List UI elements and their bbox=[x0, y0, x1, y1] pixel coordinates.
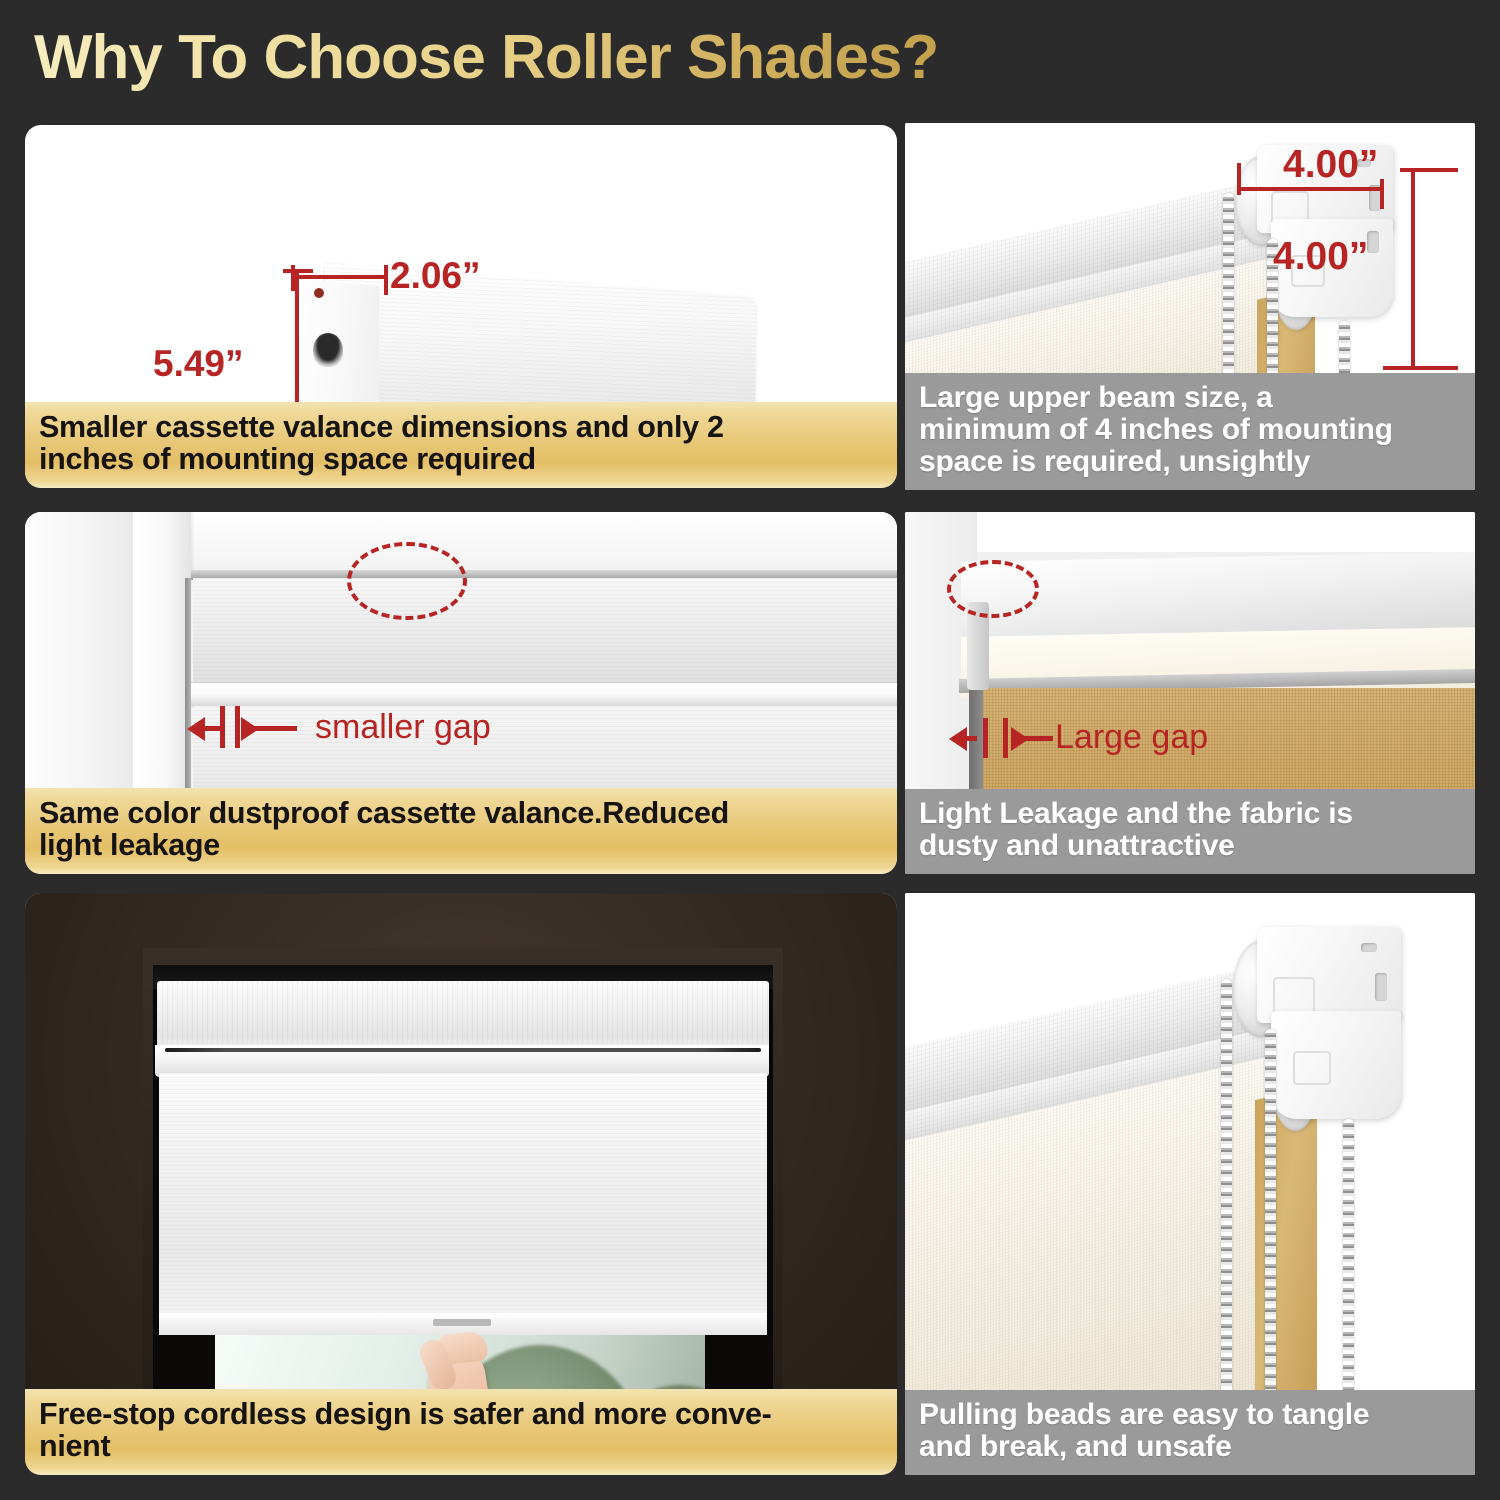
shade-fabric bbox=[159, 1073, 767, 1328]
gap-tick-a bbox=[983, 718, 988, 758]
caption-line: Smaller cassette valance dimensions and … bbox=[39, 411, 883, 444]
endcap-rivet bbox=[314, 288, 324, 298]
caption-line: dusty and unattractive bbox=[919, 830, 1461, 862]
beam-width-tick-left bbox=[1237, 163, 1241, 195]
bracket-slot-lower bbox=[1367, 231, 1379, 253]
caption-line: and break, and unsafe bbox=[919, 1431, 1461, 1463]
pulling-beads-photo bbox=[905, 893, 1475, 1475]
cassette-slit bbox=[165, 1048, 761, 1052]
beam-width-tick-right bbox=[1380, 179, 1384, 209]
width-dim-line bbox=[292, 275, 388, 279]
cassette-valance bbox=[157, 981, 769, 1053]
height-dimension-label: 5.49” bbox=[153, 343, 244, 385]
caption-line: inches of mounting space required bbox=[39, 443, 883, 476]
panel-smaller-gap: smaller gap Same color dustproof cassett… bbox=[25, 512, 897, 874]
panel-light-leakage: Large gap Light Leakage and the fabric i… bbox=[905, 512, 1475, 874]
shade-mid-band bbox=[191, 682, 897, 707]
highlight-ellipse bbox=[947, 560, 1039, 618]
bracket-slot-top bbox=[1361, 943, 1377, 952]
beam-height-tick-top bbox=[1400, 168, 1458, 172]
bracket-slot-right bbox=[1375, 973, 1387, 1001]
panel-small-cassette: 2.06” 5.49” Smaller cassette valance dim… bbox=[25, 125, 897, 488]
beam-height-dim-line bbox=[1411, 169, 1415, 369]
caption-line: Light Leakage and the fabric is bbox=[919, 798, 1461, 830]
caption-line: minimum of 4 inches of mounting bbox=[919, 414, 1461, 446]
width-dim-tick-right bbox=[384, 265, 388, 295]
room-photo bbox=[25, 893, 897, 1475]
bracket-emboss bbox=[1273, 977, 1315, 1015]
gap-label: Large gap bbox=[1055, 718, 1208, 757]
beam-height-label: 4.00” bbox=[1273, 235, 1368, 279]
gap-tick-b bbox=[1003, 718, 1008, 758]
bead-chain-mid bbox=[1265, 1029, 1276, 1449]
gap-arrow-right-shaft bbox=[253, 726, 297, 731]
caption-line: light leakage bbox=[39, 829, 883, 862]
beam-height-tick-bottom bbox=[1383, 366, 1458, 370]
gap-label: smaller gap bbox=[315, 708, 491, 747]
bracket-emboss-lower bbox=[1293, 1051, 1331, 1085]
caption-smaller-gap: Same color dustproof cassette valance.Re… bbox=[25, 788, 897, 874]
caption-line: Same color dustproof cassette valance.Re… bbox=[39, 797, 883, 830]
highlight-ellipse bbox=[347, 542, 467, 620]
mounting-bracket bbox=[1257, 927, 1401, 1023]
endcap-hole bbox=[313, 333, 343, 367]
mounting-bracket-lower bbox=[1271, 1011, 1401, 1119]
caption-line: Pulling beads are easy to tangle bbox=[919, 1399, 1461, 1431]
caption-small-cassette: Smaller cassette valance dimensions and … bbox=[25, 402, 897, 488]
gap-arrowhead-left bbox=[187, 717, 205, 741]
height-dim-tick-top bbox=[283, 269, 313, 273]
caption-line: nient bbox=[39, 1430, 883, 1463]
gap-arrowhead-right bbox=[1011, 727, 1029, 751]
panel-pulling-beads: Pulling beads are easy to tangle and bre… bbox=[905, 893, 1475, 1475]
caption-light-leakage: Light Leakage and the fabric is dusty an… bbox=[905, 789, 1475, 874]
caption-line: space is required, unsightly bbox=[919, 446, 1461, 478]
gap-arrowhead-left bbox=[949, 727, 967, 751]
caption-pulling-beads: Pulling beads are easy to tangle and bre… bbox=[905, 1390, 1475, 1475]
beam-width-label: 4.00” bbox=[1283, 143, 1378, 187]
panel-large-beam: 4.00” 4.00” Large upper beam size, a min… bbox=[905, 123, 1475, 490]
shade-upper-section bbox=[193, 578, 897, 686]
caption-cordless: Free-stop cordless design is safer and m… bbox=[25, 1389, 897, 1475]
ceiling-strip bbox=[905, 512, 1475, 552]
window-head-trim bbox=[133, 512, 897, 572]
caption-line: Large upper beam size, a bbox=[919, 382, 1461, 414]
width-dimension-label: 2.06” bbox=[390, 255, 481, 297]
beam-width-dim-line bbox=[1238, 187, 1384, 191]
caption-line: Free-stop cordless design is safer and m… bbox=[39, 1398, 883, 1431]
page-title: Why To Choose Roller Shades? bbox=[34, 22, 938, 93]
gap-tick-a bbox=[220, 706, 225, 748]
caption-large-beam: Large upper beam size, a minimum of 4 in… bbox=[905, 373, 1475, 490]
bead-chain-left bbox=[1221, 979, 1232, 1449]
gap-arrowhead-right bbox=[241, 717, 259, 741]
gap-tick-b bbox=[235, 706, 240, 748]
shade-mid-section bbox=[193, 706, 897, 796]
panel-cordless: Free-stop cordless design is safer and m… bbox=[25, 893, 897, 1475]
